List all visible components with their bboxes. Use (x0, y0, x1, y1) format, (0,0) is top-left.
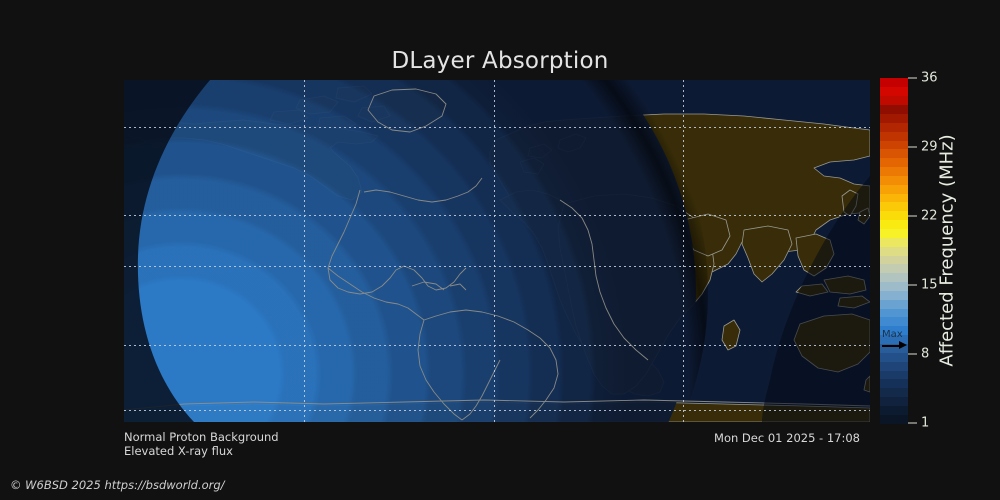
colorbar-segment (880, 414, 908, 423)
tick-mark (908, 353, 917, 355)
colorbar-segment (880, 246, 908, 255)
tick-label: 1 (921, 417, 929, 430)
tick-mark (908, 77, 917, 79)
tick-label: 8 (921, 348, 929, 361)
colorbar-segment (880, 228, 908, 237)
colorbar-segment (880, 202, 908, 211)
colorbar-segment (880, 255, 908, 264)
colorbar-segment (880, 352, 908, 361)
app-root: DLayer Absorption (0, 0, 1000, 500)
colorbar-segment (880, 299, 908, 308)
colorbar-segment (880, 405, 908, 414)
colorbar-segment (880, 122, 908, 131)
colorbar-segment (880, 281, 908, 290)
colorbar-segment (880, 193, 908, 202)
colorbar[interactable]: Max 3629221581 (880, 78, 908, 423)
colorbar-axis-title-text: Affected Frequency (MHz) (937, 134, 958, 366)
colorbar-segment (880, 379, 908, 388)
colorbar-segment (880, 290, 908, 299)
copyright-text: © W6BSD 2025 https://bsdworld.org/ (10, 478, 225, 492)
arrow-right-icon (882, 341, 906, 350)
tick-mark (908, 215, 917, 217)
colorbar-segment (880, 78, 908, 87)
colorbar-segment (880, 166, 908, 175)
timestamp-text: Mon Dec 01 2025 - 17:08 (714, 431, 860, 445)
colorbar-axis-title: Affected Frequency (MHz) (934, 78, 960, 423)
colorbar-segment (880, 211, 908, 220)
colorbar-segment (880, 158, 908, 167)
colorbar-segment (880, 96, 908, 105)
colorbar-segment (880, 184, 908, 193)
colorbar-segment (880, 308, 908, 317)
colorbar-segment (880, 220, 908, 229)
colorbar-segment (880, 396, 908, 405)
colorbar-segment (880, 105, 908, 114)
colorbar-segment (880, 237, 908, 246)
colorbar-segment (880, 87, 908, 96)
colorbar-gradient (880, 78, 908, 423)
tick-mark (908, 422, 917, 424)
colorbar-segment (880, 149, 908, 158)
colorbar-segment (880, 264, 908, 273)
world-map[interactable] (124, 80, 870, 422)
colorbar-segment (880, 370, 908, 379)
colorbar-segment (880, 317, 908, 326)
tick-mark (908, 146, 917, 148)
colorbar-tick: 8 (908, 348, 929, 361)
colorbar-segment (880, 113, 908, 122)
colorbar-segment (880, 388, 908, 397)
colorbar-segment (880, 131, 908, 140)
tick-mark (908, 284, 917, 286)
colorbar-segment (880, 361, 908, 370)
colorbar-segment (880, 140, 908, 149)
colorbar-segment (880, 273, 908, 282)
colorbar-segment (880, 175, 908, 184)
map-canvas (124, 80, 870, 422)
proton-status-text: Normal Proton Background (124, 430, 279, 444)
colorbar-tick: 1 (908, 417, 929, 430)
xray-status-text: Elevated X-ray flux (124, 444, 233, 458)
page-title: DLayer Absorption (0, 48, 1000, 74)
